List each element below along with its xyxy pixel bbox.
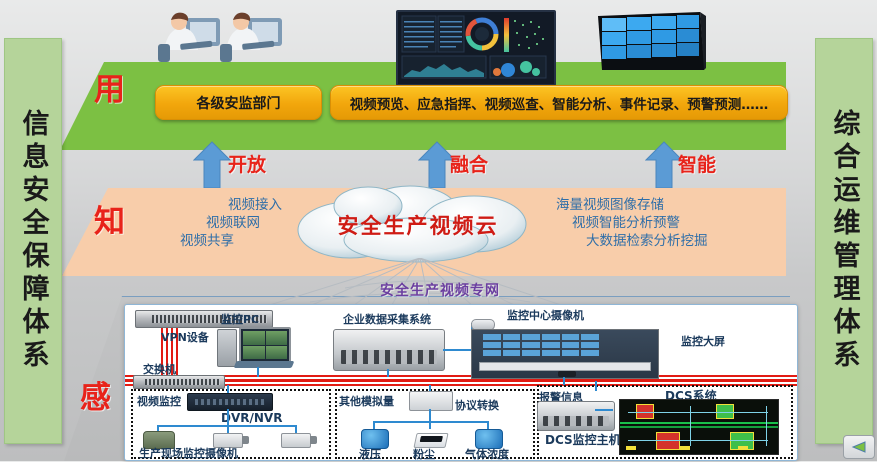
link-dvr-cams [227,409,229,425]
cloud-left-item-2: 视频联网 [112,214,282,232]
keyboard-icon [234,361,295,368]
cloud-right-item-3: 大数据检索分析挖掘 [556,232,786,250]
sensor-label-dust: 粉尘 [413,446,435,461]
dcs-host-icon [537,401,615,431]
left-rail-label: 信息安全保障体系 [20,109,47,373]
site-cameras-label: 生产现场监控摄像机 [139,445,238,461]
link-sensor3 [487,421,489,429]
protocol-converter-label: 协议转换 [455,397,499,413]
sensor-label-gas: 气体浓度 [465,446,509,461]
left-rail-information-security: 信息安全保障体系 [4,38,62,444]
up-arrow-open-icon [193,140,231,188]
cloud-title: 安全生产视频云 [288,210,548,240]
corner-badge-icon[interactable] [843,435,875,459]
switch-icon [133,375,225,389]
dvr-nvr-icon [187,393,273,411]
cloud-left-item-1: 视频接入 [112,196,282,214]
red-bus-line-0 [125,375,797,377]
big-screen-label: 监控大屏 [681,333,725,349]
link-collect-bus [387,369,389,377]
arrow-label-fusion: 融合 [450,150,488,177]
link-cam2 [227,425,229,433]
architecture-diagram: 信息安全保障体系 综合运维管理体系 用 知 感 各级安监部门 视频预览、应急指挥… [0,0,877,461]
dcs-host-label: DCS监控主机 [545,431,621,448]
cloud-left-items: 视频接入 视频联网 视频共享 [112,196,282,250]
link-collect-room-h [443,349,473,351]
layer-glyph-use: 用 [94,64,125,109]
sense-layer-panel: VPN设备 交换机 监控PC 企业数据采集系统 监控中心摄像机 [124,304,798,461]
cloud-right-item-2: 视频智能分析预警 [556,214,786,232]
vpn-device-label: VPN设备 [161,329,209,345]
right-rail-label: 综合运维管理体系 [831,109,858,373]
link-sensor1 [373,421,375,429]
functions-button[interactable]: 视频预览、应急指挥、视频巡查、智能分析、事件记录、预警预测…… [330,85,788,120]
pc-tower-icon [217,329,237,367]
link-dvr-bus [227,385,229,393]
bi-dashboard-screen-image [396,10,556,86]
link-sensors-h [373,421,489,423]
arrow-label-open: 开放 [228,150,266,177]
switch-label: 交换机 [143,361,176,377]
sensor-label-hydraulic: 液压 [359,446,381,461]
link-cam3 [295,425,297,433]
link-conv-down [429,409,431,421]
arrow-label-intelligent: 智能 [678,150,716,177]
pc-monitor-icon [239,327,291,363]
data-collect-label: 企业数据采集系统 [343,311,431,327]
protocol-converter-icon [409,391,453,411]
group-analog-title: 其他模拟量 [339,393,394,409]
control-room-image [471,329,659,379]
dcs-system-image [619,399,779,455]
link-pc-bus [257,367,259,377]
box-camera-2-icon [281,433,311,448]
link-sensor2 [429,421,431,429]
link-room-bus [563,377,565,385]
operators-at-computers-image [150,4,300,66]
private-network-label: 安全生产视频专网 [330,280,550,300]
cloud-right-items: 海量视频图像存储 视频智能分析预警 大数据检索分析挖掘 [556,196,786,250]
dept-button[interactable]: 各级安监部门 [155,85,322,120]
group-video-title: 视频监控 [137,393,181,409]
layer-glyph-sense: 感 [80,372,111,417]
video-wall-image [592,12,708,74]
link-dcs-host-h [595,409,613,411]
dvr-nvr-label: DVR/NVR [221,411,282,425]
link-conv-bus [429,385,431,391]
red-bus-line-1 [125,379,797,382]
data-collect-server-icon [333,329,445,371]
center-camera-label: 监控中心摄像机 [507,307,584,323]
link-dcs-bus [595,381,597,391]
cloud-left-item-3: 视频共享 [112,232,282,250]
monitor-pc-label: 监控PC [221,311,259,327]
right-rail-operations-management: 综合运维管理体系 [815,38,873,444]
cloud-right-item-1: 海量视频图像存储 [556,196,786,214]
